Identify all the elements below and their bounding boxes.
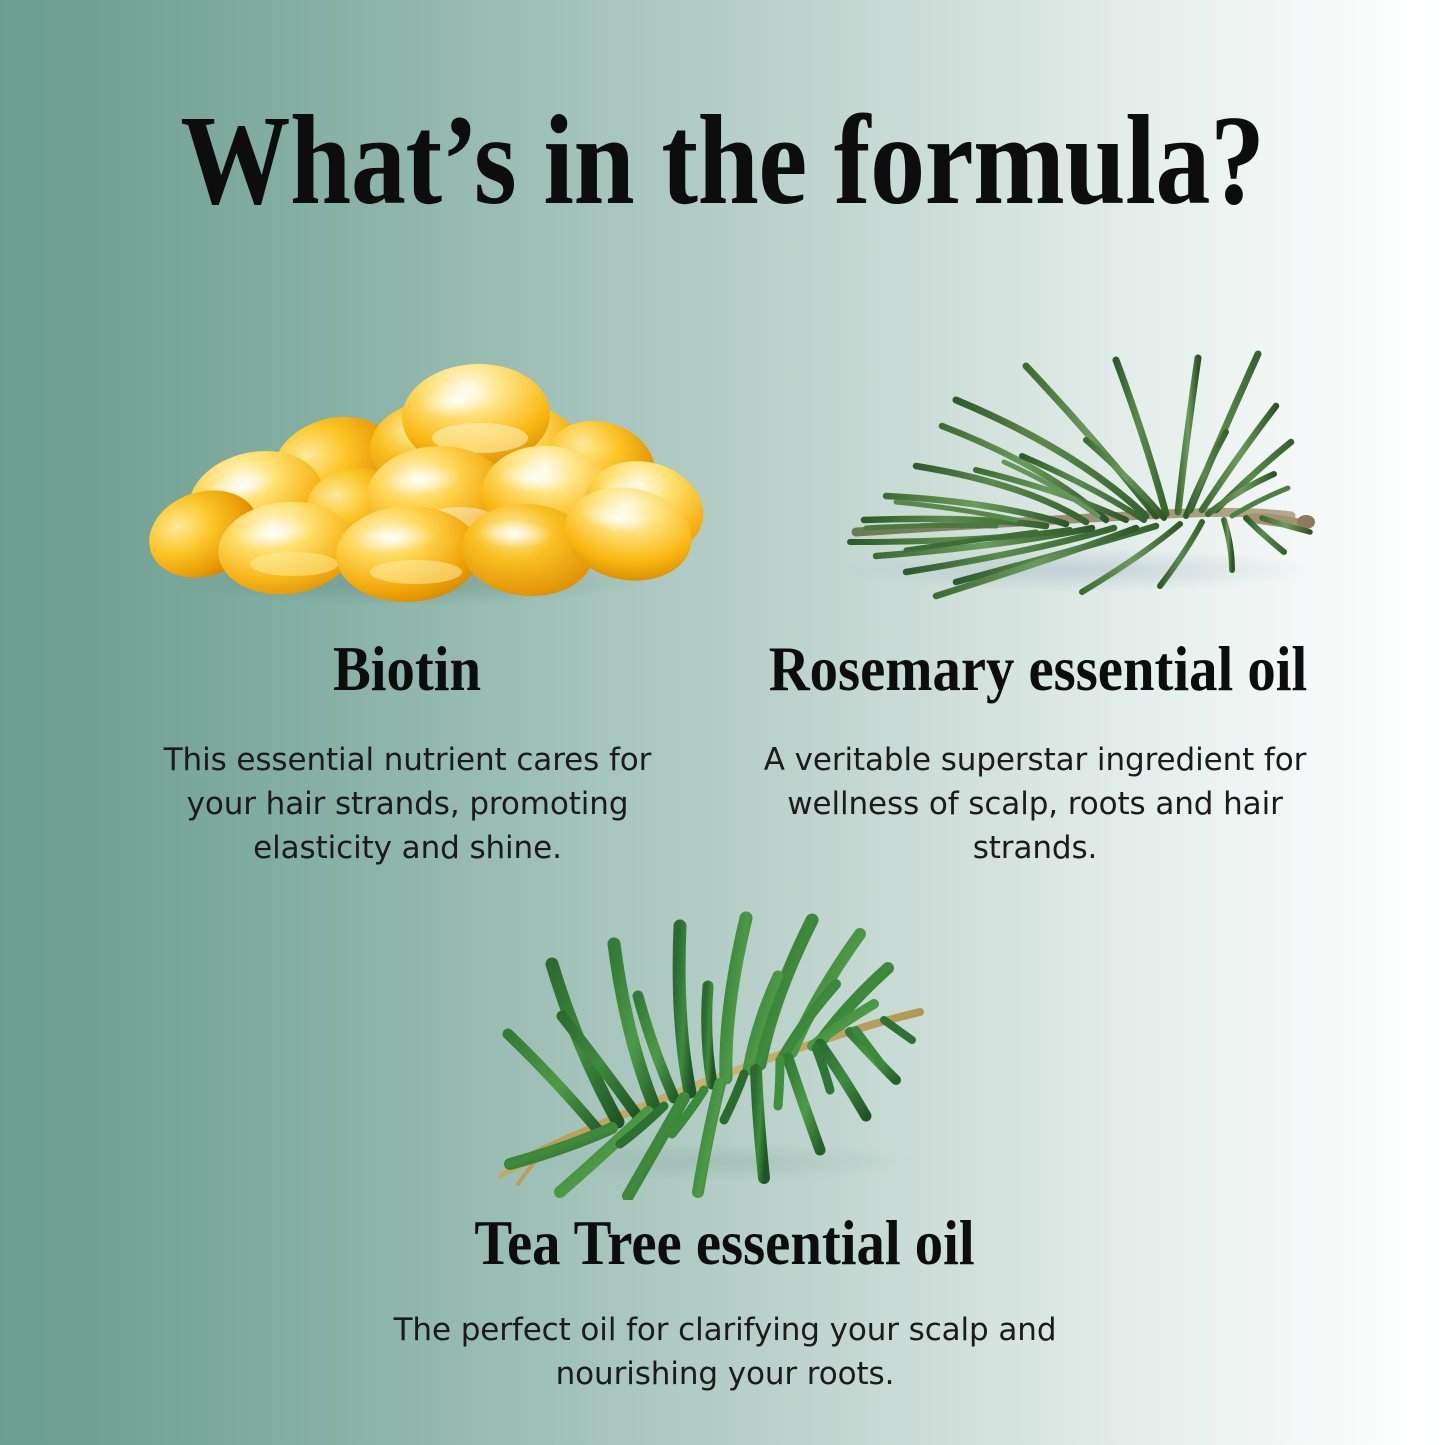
rosemary-description: A veritable superstar ingredient for wel…	[745, 738, 1325, 870]
tea-tree-sprig-image	[468, 900, 968, 1200]
biotin-heading: Biotin	[151, 638, 664, 701]
tea-tree-heading: Tea Tree essential oil	[443, 1212, 1006, 1275]
rosemary-sprig-image	[746, 320, 1346, 620]
rosemary-heading: Rosemary essential oil	[750, 638, 1326, 701]
tea-tree-description: The perfect oil for clarifying your scal…	[375, 1308, 1075, 1396]
biotin-capsules-image	[108, 338, 720, 610]
page-title: What’s in the formula?	[101, 96, 1344, 224]
biotin-description: This essential nutrient cares for your h…	[130, 738, 685, 870]
ingredients-infographic: What’s in the formula?	[0, 0, 1445, 1445]
